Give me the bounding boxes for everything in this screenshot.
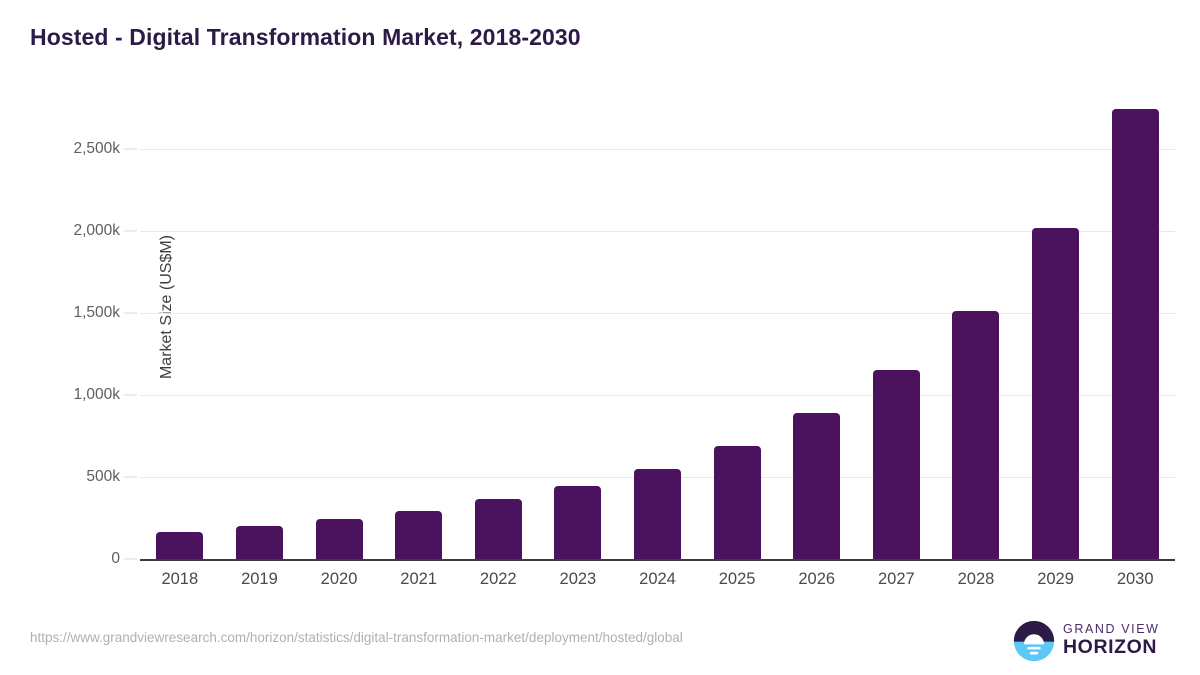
bar-2021[interactable] xyxy=(395,511,442,559)
bar-2026[interactable] xyxy=(793,413,840,559)
plot-area: Market Size (US$M) xyxy=(140,100,1175,559)
bar-2020[interactable] xyxy=(316,519,363,559)
bar-2022[interactable] xyxy=(475,499,522,559)
bar-2030[interactable] xyxy=(1112,109,1159,559)
y-axis-tick-mark xyxy=(124,395,137,396)
bar-2024[interactable] xyxy=(634,469,681,559)
x-axis-tick-label: 2026 xyxy=(777,570,857,589)
chart-plot-wrapper: 0500k1,000k1,500k2,000k2,500k Market Siz… xyxy=(0,0,1200,620)
bar-2023[interactable] xyxy=(554,486,601,559)
x-axis-tick-label: 2025 xyxy=(697,570,777,589)
x-axis-line xyxy=(140,559,1175,561)
y-axis-tick-mark xyxy=(124,231,137,232)
x-axis-tick-label: 2023 xyxy=(538,570,618,589)
chart-page: Hosted - Digital Transformation Market, … xyxy=(0,0,1200,675)
x-axis-tick-label: 2022 xyxy=(458,570,538,589)
bar-2019[interactable] xyxy=(236,526,283,559)
x-axis-tick-label: 2024 xyxy=(618,570,698,589)
y-axis-tick-label: 2,500k xyxy=(10,140,120,158)
y-axis-tick-label: 0 xyxy=(10,550,120,568)
x-axis-tick-label: 2027 xyxy=(856,570,936,589)
x-axis-tick-label: 2020 xyxy=(299,570,379,589)
bar-2028[interactable] xyxy=(952,311,999,559)
brand-logo-line2: HORIZON xyxy=(1063,637,1160,658)
y-axis-tick-mark xyxy=(124,149,137,150)
brand-logo-text: GRAND VIEW HORIZON xyxy=(1063,622,1160,658)
x-axis-tick-label: 2030 xyxy=(1095,570,1175,589)
bar-2025[interactable] xyxy=(714,446,761,559)
brand-logo-line1: GRAND VIEW xyxy=(1063,622,1160,637)
y-axis-tick-label: 500k xyxy=(10,468,120,486)
brand-logo[interactable]: GRAND VIEW HORIZON xyxy=(1013,618,1173,664)
source-url[interactable]: https://www.grandviewresearch.com/horizo… xyxy=(30,630,683,645)
x-axis-tick-label: 2018 xyxy=(140,570,220,589)
bar-2018[interactable] xyxy=(156,532,203,559)
bar-2029[interactable] xyxy=(1032,228,1079,559)
y-axis-tick-label: 1,000k xyxy=(10,386,120,404)
x-axis-tick-label: 2029 xyxy=(1016,570,1096,589)
gridline xyxy=(140,149,1175,150)
gridline xyxy=(140,395,1175,396)
gridline xyxy=(140,231,1175,232)
horizon-logo-icon xyxy=(1013,620,1055,662)
x-axis-tick-label: 2028 xyxy=(936,570,1016,589)
y-axis-title: Market Size (US$M) xyxy=(158,117,176,497)
y-axis-tick-mark xyxy=(124,559,137,560)
x-axis-tick-label: 2021 xyxy=(379,570,459,589)
x-axis-tick-label: 2019 xyxy=(219,570,299,589)
bar-2027[interactable] xyxy=(873,370,920,559)
y-axis-tick-label: 2,000k xyxy=(10,222,120,240)
gridline xyxy=(140,313,1175,314)
y-axis-tick-label: 1,500k xyxy=(10,304,120,322)
y-axis-tick-mark xyxy=(124,477,137,478)
y-axis-tick-mark xyxy=(124,313,137,314)
